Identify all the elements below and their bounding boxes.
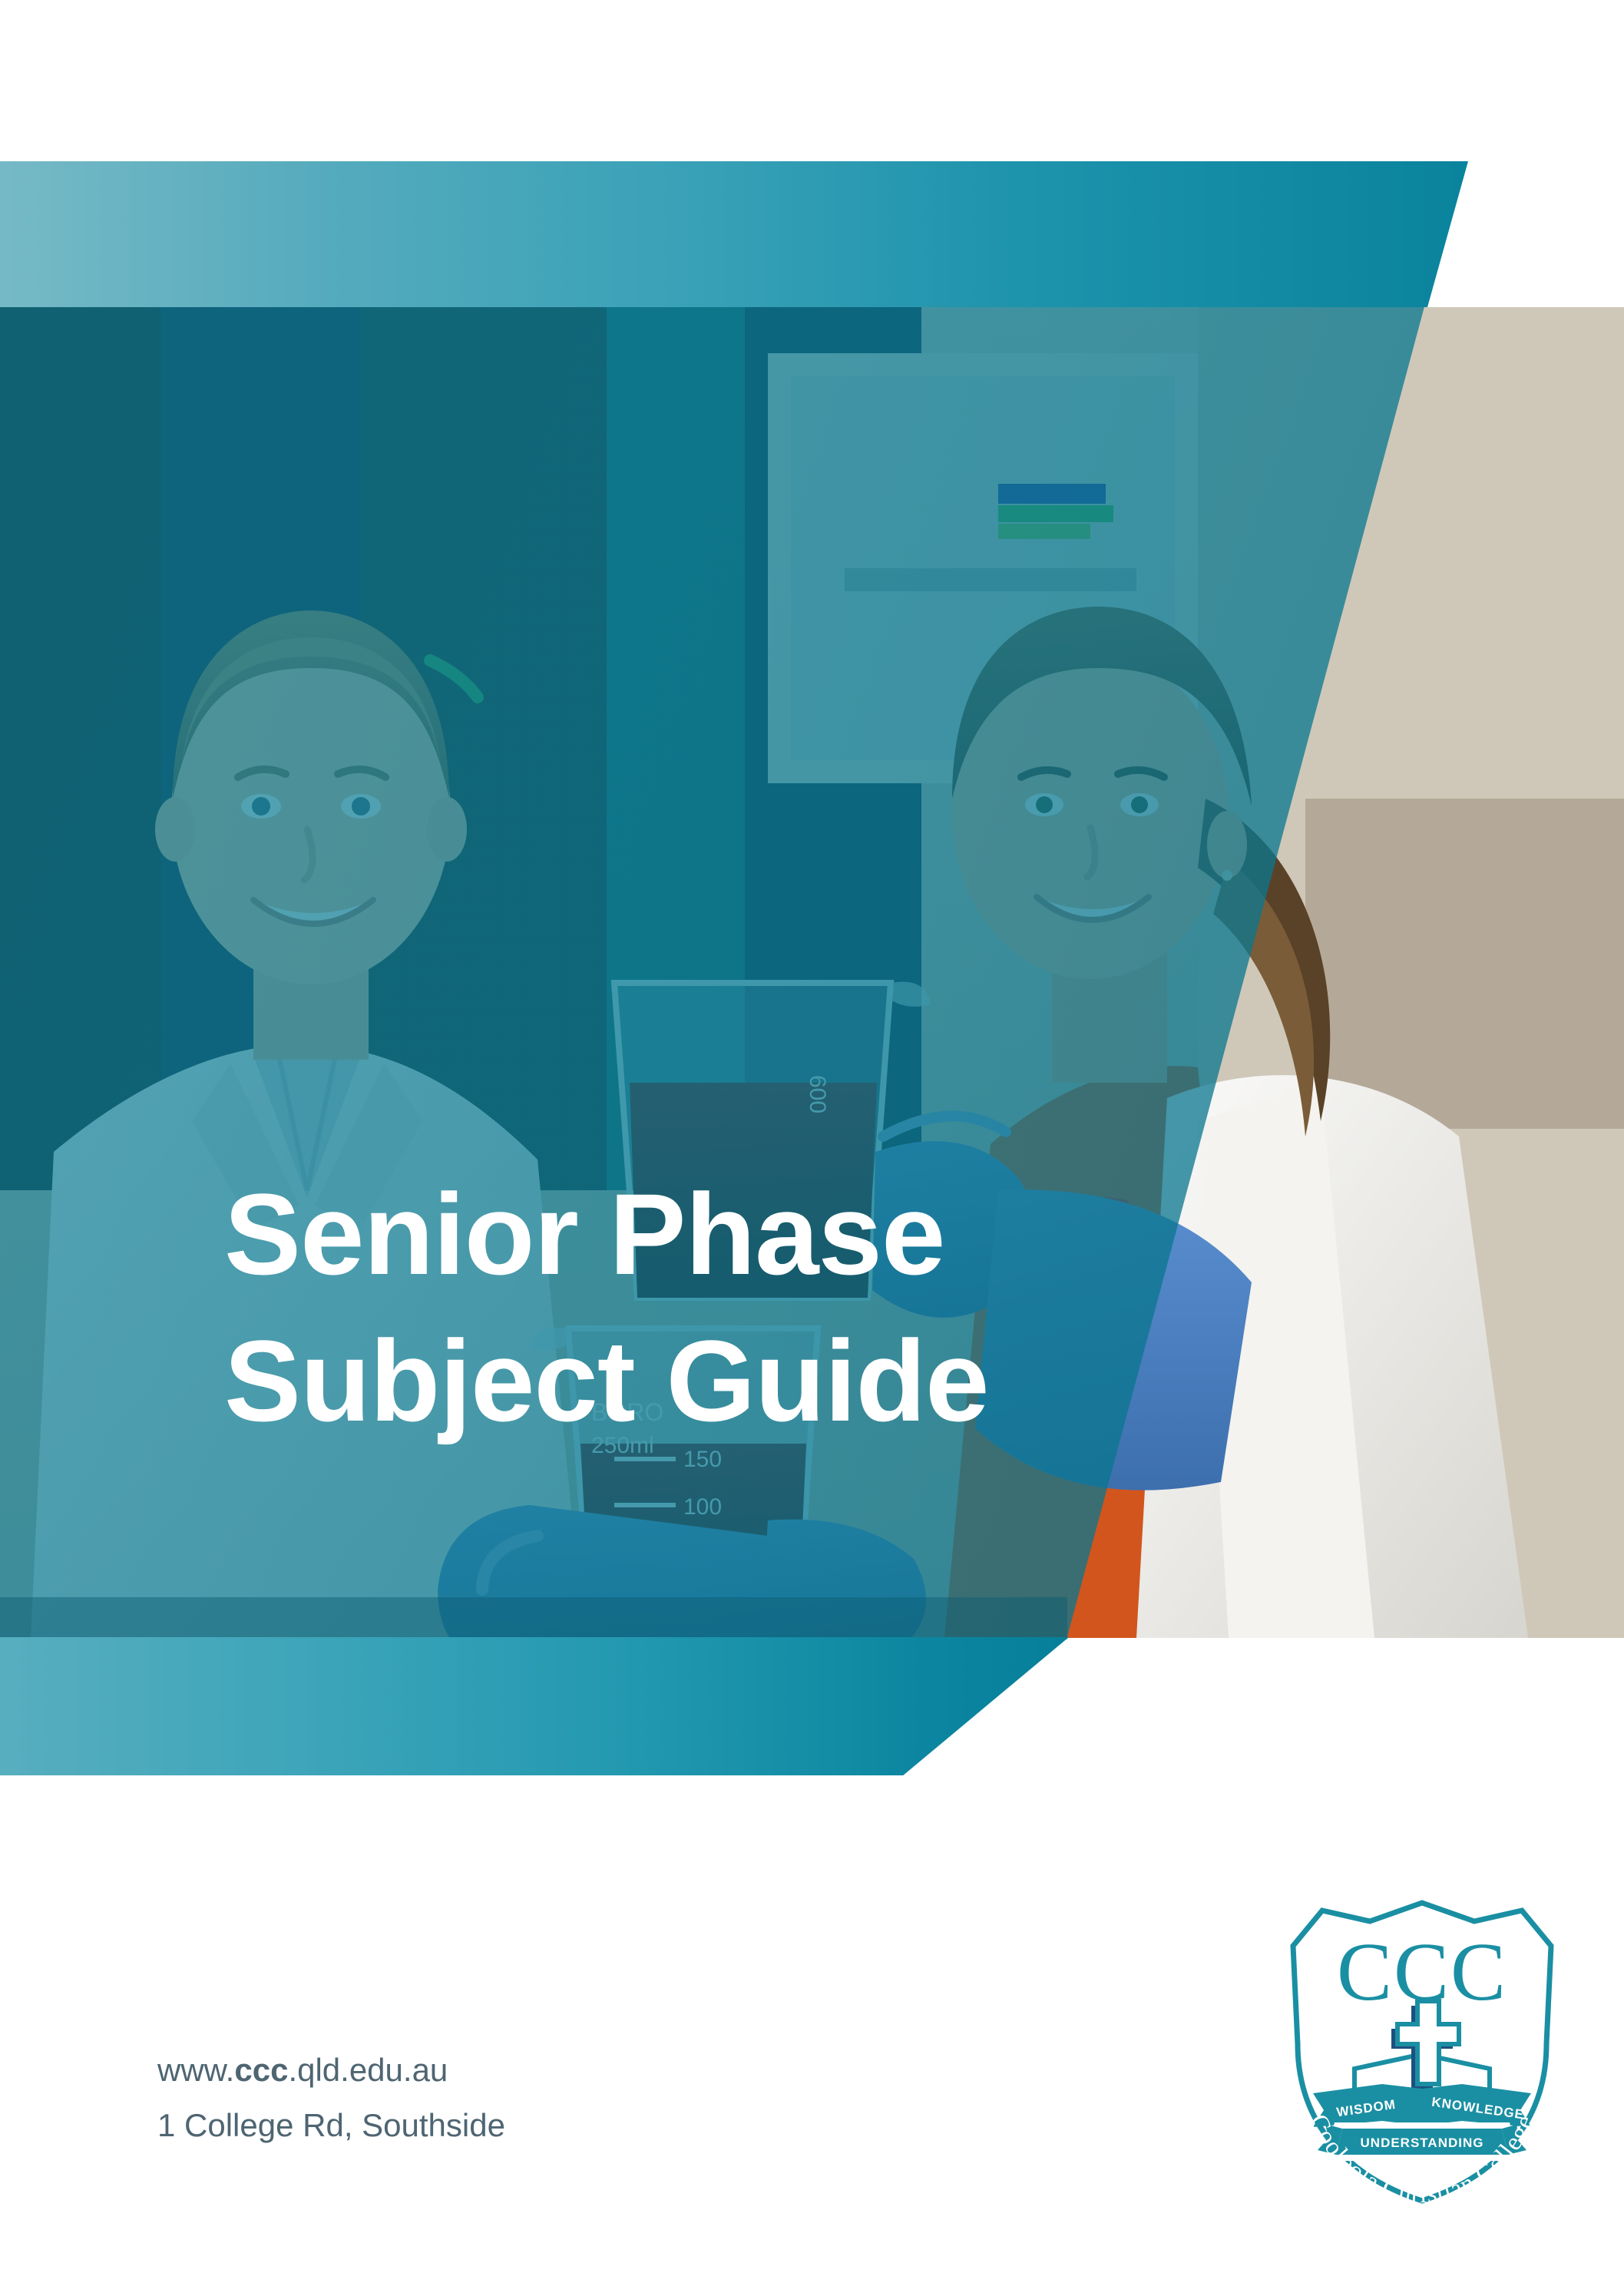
page-title-line-2: Subject Guide [224,1308,1222,1454]
college-logo: CCC WISDOM KNOWLEDGE UNDERSTANDING [1268,1891,1576,2213]
footer-website-bold: ccc [234,2052,288,2088]
svg-text:100: 100 [683,1494,722,1520]
footer: www.ccc.qld.edu.au 1 College Rd, Southsi… [157,2043,505,2153]
footer-website[interactable]: www.ccc.qld.edu.au [157,2043,505,2098]
svg-text:600: 600 [805,1075,830,1113]
footer-website-suffix: .qld.edu.au [288,2052,448,2088]
cover-page: 600 150 100 50 BORO 250ml [0,0,1624,2296]
footer-website-prefix: www. [157,2052,234,2088]
footer-address: 1 College Rd, Southside [157,2098,505,2153]
bottom-teal-banner [0,1637,1069,1775]
page-title-line-1: Senior Phase [224,1161,1222,1308]
top-teal-banner [0,161,1468,309]
page-title: Senior Phase Subject Guide [224,1161,1222,1454]
logo-ribbon-bottom: UNDERSTANDING [1361,2136,1484,2150]
